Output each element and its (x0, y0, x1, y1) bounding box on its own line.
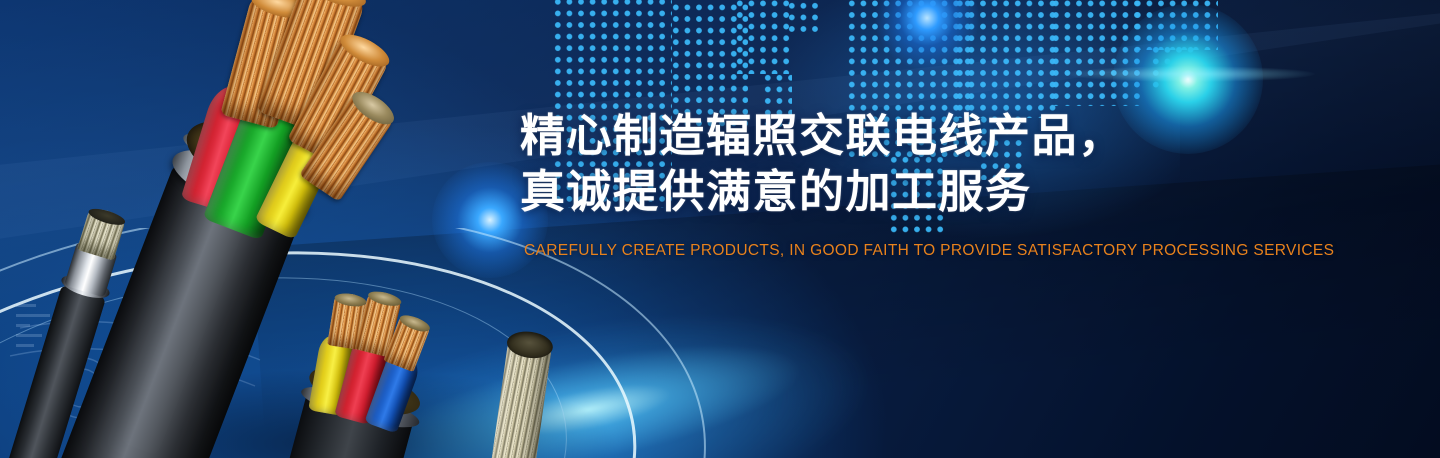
subtitle-english: CAREFULLY CREATE PRODUCTS, IN GOOD FAITH… (524, 242, 1380, 260)
headline-line-1: 精心制造辐照交联电线产品， (520, 108, 1380, 164)
hero-banner: 精心制造辐照交联电线产品， 真诚提供满意的加工服务 CAREFULLY CREA… (0, 0, 1440, 458)
headline-line-2: 真诚提供满意的加工服务 (520, 164, 1380, 220)
banner-copy: 精心制造辐照交联电线产品， 真诚提供满意的加工服务 CAREFULLY CREA… (520, 108, 1380, 260)
